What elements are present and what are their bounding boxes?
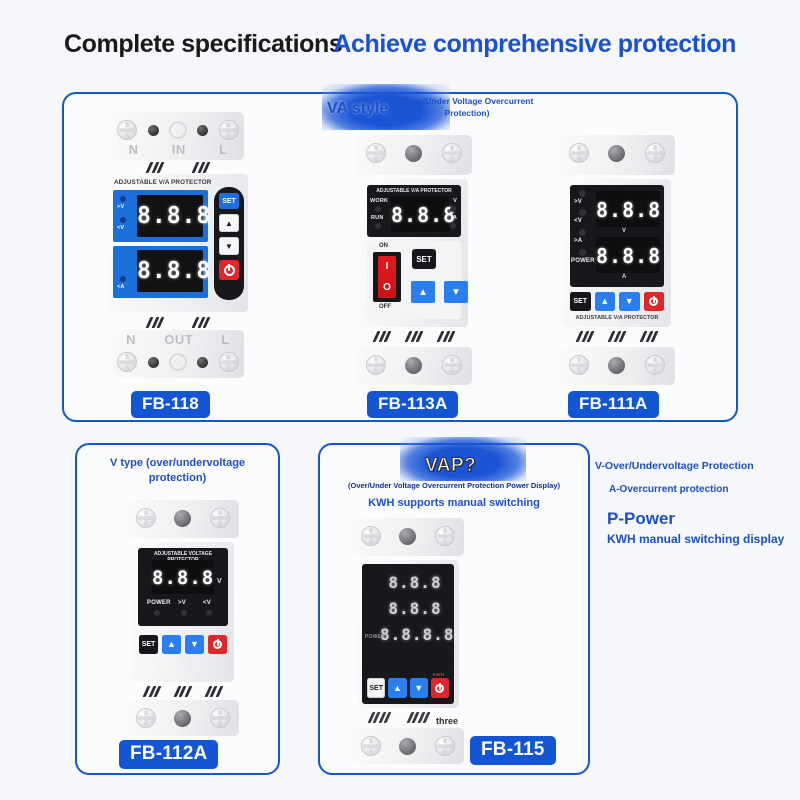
fb113a-label-off: OFF bbox=[379, 304, 391, 310]
led-dot-icon bbox=[148, 125, 159, 136]
fb113a-label-v: V bbox=[453, 198, 457, 204]
fb111a-vents bbox=[569, 331, 665, 342]
screw-icon bbox=[366, 143, 386, 163]
fb111a-unit-current: A bbox=[622, 274, 627, 280]
fb113a-set-button[interactable]: SET bbox=[412, 249, 436, 269]
terminal-hole-icon bbox=[399, 528, 416, 545]
fb111a-top-terminals bbox=[559, 143, 675, 163]
badge-fb-115: FB-115 bbox=[470, 736, 556, 765]
vap-kwh-note: KWH supports manual switching bbox=[330, 497, 578, 509]
fb112a-up-button[interactable]: ▲ bbox=[162, 635, 181, 654]
terminal-hole-icon bbox=[608, 357, 625, 374]
fb115-vent-note: three bbox=[436, 716, 458, 726]
terminal-hole-icon bbox=[174, 510, 191, 527]
screw-icon bbox=[645, 355, 665, 375]
fb111a-display-module: >V <V >A POWER 8.8.8 V 8.8.8 A bbox=[570, 185, 664, 287]
fb113a-led-v bbox=[450, 206, 456, 212]
fb113a-switch-i: I bbox=[386, 262, 389, 272]
badge-fb-112a: FB-112A bbox=[119, 740, 218, 769]
badge-fb-111a: FB-111A bbox=[568, 391, 659, 418]
fb118-current-panel: 8.8.8 <A bbox=[113, 246, 208, 298]
screw-icon bbox=[366, 355, 386, 375]
fb115-top-cap bbox=[352, 518, 464, 556]
terminal-label-l: L bbox=[221, 332, 229, 347]
fb113a-lcd: 8.8.8 bbox=[391, 196, 449, 232]
fb113a-digits: 8.8.8 bbox=[391, 196, 449, 225]
fb118-voltage-digits: 8.8.8 bbox=[137, 195, 203, 228]
fb113a-led-work bbox=[375, 206, 381, 212]
led-dot-icon bbox=[197, 357, 208, 368]
fb113a-face: ADJUSTABLE V/A PROTECTOR 8.8.8 WORK RUN … bbox=[360, 179, 468, 327]
fb111a-led-power bbox=[579, 249, 586, 256]
fb111a-voltage-lcd: 8.8.8 bbox=[596, 191, 660, 227]
fb118-bottom-vents bbox=[132, 317, 224, 328]
fb111a-face: >V <V >A POWER 8.8.8 V 8.8.8 A SET ▲ bbox=[563, 179, 671, 327]
fb115-button-row: SET ▲ ▼ KWH bbox=[367, 677, 449, 699]
power-icon bbox=[649, 297, 658, 306]
fb113a-label-run: RUN bbox=[371, 215, 384, 221]
power-icon bbox=[224, 265, 235, 276]
screw-icon bbox=[219, 352, 239, 372]
power-icon bbox=[213, 640, 222, 649]
fb112a-power-button[interactable] bbox=[208, 635, 227, 654]
fb113a-rocker-housing: I O bbox=[373, 252, 401, 302]
fb112a-button-row: SET ▲ ▼ bbox=[139, 632, 227, 656]
fb118-face: ADJUSTABLE V/A PROTECTOR 8.8.8 >V <V 8.8… bbox=[108, 174, 248, 312]
fb113a-vents bbox=[366, 331, 462, 342]
fb111a-up-button[interactable]: ▲ bbox=[595, 292, 616, 311]
fb112a-top-terminals bbox=[127, 508, 239, 528]
vap-sublabel: (Over/Under Voltage Overcurrent Protecti… bbox=[330, 481, 578, 491]
fb112a-unit-voltage: V bbox=[217, 578, 222, 585]
fb118-down-button[interactable]: ▼ bbox=[219, 237, 239, 255]
fb112a-led-overvoltage bbox=[181, 610, 187, 616]
v-type-label: V type (over/undervoltage protection) bbox=[95, 456, 260, 486]
screw-icon bbox=[361, 736, 381, 756]
fb111a-label-overcurrent: >A bbox=[574, 238, 582, 244]
legend-line-current: A-Overcurrent protection bbox=[609, 484, 795, 495]
fb118-up-button[interactable]: ▲ bbox=[219, 214, 239, 232]
fb115-kwh-tag: KWH bbox=[433, 672, 444, 677]
fb113a-led-run bbox=[375, 223, 381, 229]
fb111a-bottom-terminals bbox=[559, 355, 675, 375]
fb113a-top-cap bbox=[356, 135, 472, 175]
fb113a-bottom-cap bbox=[356, 347, 472, 385]
fb111a-label-undervoltage: <V bbox=[574, 218, 582, 224]
fb111a-top-cap bbox=[559, 135, 675, 175]
legend-line-voltage: V-Over/Undervoltage Protection bbox=[595, 460, 795, 472]
fb111a-label-power: POWER bbox=[571, 258, 595, 264]
fb112a-digits: 8.8.8 bbox=[152, 560, 214, 588]
fb112a-set-button[interactable]: SET bbox=[139, 635, 158, 654]
screw-icon bbox=[569, 355, 589, 375]
vap-label: VAP? bbox=[425, 455, 476, 477]
fb118-bottom-cap: N OUT L bbox=[112, 330, 244, 378]
fb111a-power-button[interactable] bbox=[644, 292, 665, 311]
fb113a-label-a: A bbox=[453, 215, 457, 221]
fb115-power-button[interactable]: KWH bbox=[431, 678, 449, 698]
fb112a-lcd: 8.8.8 bbox=[152, 560, 214, 594]
fb113a-down-button[interactable]: ▼ bbox=[444, 281, 468, 303]
fb112a-face: ADJUSTABLE VOLTAGE PROTECTOR 8.8.8 V POW… bbox=[132, 542, 234, 682]
fb115-display-2: 8.8.8 bbox=[384, 601, 446, 617]
fb112a-label-overvoltage: >V bbox=[178, 600, 186, 606]
fb113a-label-on: ON bbox=[379, 243, 388, 249]
fb118-set-button[interactable]: SET bbox=[219, 193, 239, 209]
terminal-hole-icon bbox=[608, 145, 625, 162]
terminal-hole-icon bbox=[405, 145, 422, 162]
terminal-label-in: IN bbox=[172, 142, 186, 157]
badge-fb-113a: FB-113A bbox=[367, 391, 458, 418]
screw-icon bbox=[442, 143, 462, 163]
fb113a-switch-o: O bbox=[383, 283, 391, 293]
fb118-top-cap: N IN L bbox=[112, 112, 244, 160]
screw-icon bbox=[569, 143, 589, 163]
legend-line-kwh: KWH manual switching display bbox=[607, 532, 795, 546]
fb118-bottom-terminal-labels: N OUT L bbox=[112, 332, 244, 347]
fb113a-power-rocker-switch[interactable]: I O bbox=[378, 256, 396, 298]
page-title-black: Complete specifications bbox=[64, 30, 342, 58]
fb118-label-current: <A bbox=[117, 284, 125, 290]
fb118-button-strip: SET ▲ ▼ bbox=[214, 187, 244, 300]
fb118-voltage-panel: 8.8.8 >V <V bbox=[113, 190, 208, 242]
fb111a-brand-text: ADJUSTABLE V/A PROTECTOR bbox=[563, 315, 671, 321]
fb118-voltage-lcd: 8.8.8 bbox=[137, 195, 203, 237]
fb115-down-button[interactable]: ▼ bbox=[410, 678, 428, 698]
device-fb-115: 8.8.8 8.8.8 8.8.8.8 POWER SET ▲ ▼ KWH t bbox=[348, 518, 468, 753]
fb118-led-undervoltage bbox=[120, 217, 126, 223]
fb112a-led-undervoltage bbox=[206, 610, 212, 616]
fb118-top-terminal-labels: N IN L bbox=[112, 142, 244, 157]
fb112a-vents bbox=[137, 686, 229, 697]
fb112a-top-cap bbox=[127, 500, 239, 538]
fb118-current-lcd: 8.8.8 bbox=[137, 250, 203, 292]
va-style-sublabel: (Over/Under Voltage Overcurrent Protecti… bbox=[392, 95, 542, 120]
fb111a-unit-voltage: V bbox=[622, 228, 626, 234]
product-spec-page: Complete specificationsAchieve comprehen… bbox=[0, 0, 800, 800]
screw-icon bbox=[117, 120, 137, 140]
terminal-hole-icon bbox=[405, 357, 422, 374]
screw-icon bbox=[210, 508, 230, 528]
screw-icon bbox=[442, 355, 462, 375]
fb113a-bottom-terminals bbox=[356, 355, 472, 375]
fb115-bottom-terminals bbox=[352, 736, 464, 756]
fb115-vents bbox=[360, 712, 438, 723]
fb113a-up-button[interactable]: ▲ bbox=[411, 281, 435, 303]
terminal-label-n: N bbox=[129, 142, 139, 157]
terminal-label-n: N bbox=[126, 332, 136, 347]
fb113a-brand-text: ADJUSTABLE V/A PROTECTOR bbox=[367, 188, 461, 194]
va-style-label: VA style bbox=[327, 100, 388, 118]
fb111a-set-button[interactable]: SET bbox=[570, 292, 591, 311]
device-fb-113a: ADJUSTABLE V/A PROTECTOR 8.8.8 WORK RUN … bbox=[350, 135, 478, 375]
fb111a-button-row: SET ▲ ▼ bbox=[570, 289, 664, 313]
fb111a-voltage-digits: 8.8.8 bbox=[596, 191, 660, 220]
fb111a-led-overcurrent bbox=[579, 229, 586, 236]
screw-icon bbox=[117, 352, 137, 372]
fb115-up-button[interactable]: ▲ bbox=[388, 678, 406, 698]
fb118-label-undervoltage: <V bbox=[117, 225, 124, 231]
ring-hole-icon bbox=[169, 121, 187, 139]
fb111a-current-lcd: 8.8.8 bbox=[596, 237, 660, 273]
page-title-blue: Achieve comprehensive protection bbox=[333, 30, 736, 58]
terminal-hole-icon bbox=[399, 738, 416, 755]
fb115-top-terminals bbox=[352, 526, 464, 546]
fb113a-led-a bbox=[450, 223, 456, 229]
terminal-label-l: L bbox=[219, 142, 227, 157]
device-fb-118: N IN L ADJUSTABLE V/A PROTECTOR 8.8.8 >V… bbox=[108, 112, 248, 377]
fb115-bottom-cap bbox=[352, 728, 464, 764]
screw-icon bbox=[219, 120, 239, 140]
fb115-set-button[interactable]: SET bbox=[367, 678, 385, 698]
fb112a-bottom-cap bbox=[127, 700, 239, 736]
fb111a-led-overvoltage bbox=[579, 190, 586, 197]
fb118-led-overcurrent bbox=[120, 276, 126, 282]
fb111a-led-undervoltage bbox=[579, 209, 586, 216]
fb118-label-overvoltage: >V bbox=[117, 204, 124, 210]
terminal-hole-icon bbox=[174, 710, 191, 727]
fb115-face: 8.8.8 8.8.8 8.8.8.8 POWER SET ▲ ▼ KWH bbox=[357, 560, 459, 708]
fb118-current-digits: 8.8.8 bbox=[137, 250, 203, 283]
screw-icon bbox=[210, 708, 230, 728]
fb113a-label-work: WORK bbox=[370, 198, 388, 204]
page-title: Complete specificationsAchieve comprehen… bbox=[0, 30, 800, 59]
fb113a-top-terminals bbox=[356, 143, 472, 163]
device-fb-112a: ADJUSTABLE VOLTAGE PROTECTOR 8.8.8 V POW… bbox=[123, 500, 243, 730]
legend-line-power: P-Power bbox=[607, 509, 795, 529]
fb113a-display-module: ADJUSTABLE V/A PROTECTOR 8.8.8 WORK RUN … bbox=[367, 185, 461, 237]
fb118-top-terminals bbox=[112, 120, 244, 140]
screw-icon bbox=[136, 708, 156, 728]
fb112a-label-undervoltage: <V bbox=[203, 600, 211, 606]
fb118-brand-text: ADJUSTABLE V/A PROTECTOR bbox=[114, 179, 211, 186]
fb118-top-vents bbox=[132, 162, 224, 173]
screw-icon bbox=[645, 143, 665, 163]
screw-icon bbox=[361, 526, 381, 546]
fb111a-down-button[interactable]: ▼ bbox=[619, 292, 640, 311]
fb112a-down-button[interactable]: ▼ bbox=[185, 635, 204, 654]
fb115-label-power: POWER bbox=[365, 634, 385, 640]
fb112a-led-power bbox=[154, 610, 160, 616]
led-dot-icon bbox=[197, 125, 208, 136]
fb118-power-button[interactable] bbox=[219, 260, 239, 280]
terminal-label-out: OUT bbox=[164, 332, 193, 347]
fb113a-control-area: ON I O OFF SET ▲ ▼ bbox=[367, 241, 461, 319]
screw-icon bbox=[435, 736, 455, 756]
fb115-display-1: 8.8.8 bbox=[384, 575, 446, 591]
fb111a-bottom-cap bbox=[559, 347, 675, 385]
fb115-display-module: 8.8.8 8.8.8 8.8.8.8 POWER SET ▲ ▼ KWH bbox=[362, 564, 454, 704]
fb112a-bottom-terminals bbox=[127, 708, 239, 728]
feature-legend: V-Over/Undervoltage Protection A-Overcur… bbox=[595, 460, 795, 546]
badge-fb-118: FB-118 bbox=[131, 391, 210, 418]
ring-hole-icon bbox=[169, 353, 187, 371]
screw-icon bbox=[136, 508, 156, 528]
led-dot-icon bbox=[148, 357, 159, 368]
screw-icon bbox=[435, 526, 455, 546]
fb118-led-overvoltage bbox=[120, 196, 126, 202]
fb115-display-3: 8.8.8.8 bbox=[380, 627, 454, 643]
device-fb-111a: >V <V >A POWER 8.8.8 V 8.8.8 A SET ▲ bbox=[553, 135, 681, 375]
fb112a-display-module: ADJUSTABLE VOLTAGE PROTECTOR 8.8.8 V POW… bbox=[138, 548, 228, 626]
fb112a-label-power: POWER bbox=[147, 600, 171, 606]
fb118-bottom-terminals bbox=[112, 352, 244, 372]
power-icon bbox=[435, 684, 444, 693]
fb111a-current-digits: 8.8.8 bbox=[596, 237, 660, 266]
fb111a-label-overvoltage: >V bbox=[574, 199, 582, 205]
